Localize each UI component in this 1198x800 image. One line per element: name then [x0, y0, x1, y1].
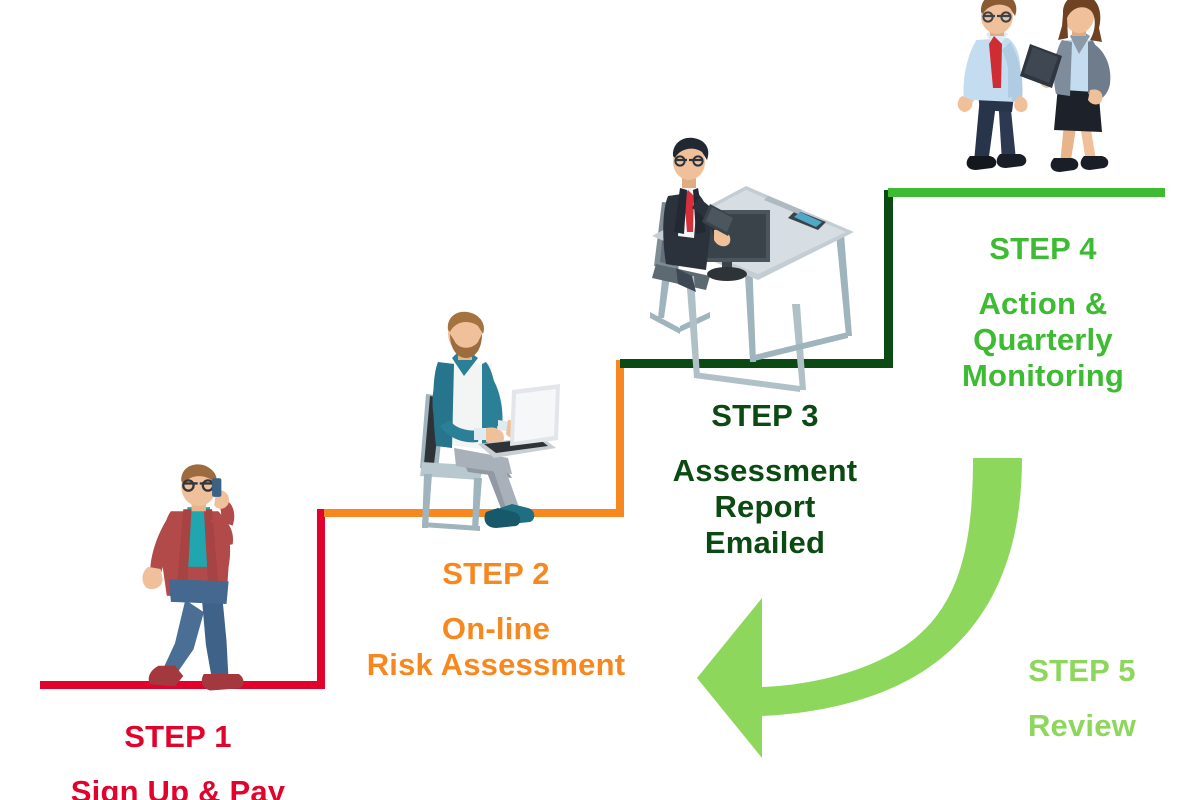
step-3-body: Assessment Report Emailed: [610, 453, 920, 562]
step-5-label-block: STEP 5 Review: [962, 634, 1198, 763]
step-2-body: On-line Risk Assessment: [320, 611, 672, 684]
step-3-label-block: STEP 3 Assessment Report Emailed: [610, 379, 920, 580]
step-4-body: Action & Quarterly Monitoring: [900, 286, 1186, 395]
infographic-canvas: STEP 1 Sign Up & Pay STEP 2 On-line Risk…: [0, 0, 1198, 800]
step-4-label-block: STEP 4 Action & Quarterly Monitoring: [900, 212, 1186, 413]
illustration-businesswoman-standing: [1020, 0, 1110, 172]
illustration-businessman-standing: [958, 0, 1028, 170]
step-4-title: STEP 4: [900, 231, 1186, 267]
step-5-body: Review: [962, 708, 1198, 744]
step-1-body: Sign Up & Pay: [18, 774, 338, 800]
step-3-title: STEP 3: [610, 398, 920, 434]
step-1-title: STEP 1: [18, 719, 338, 755]
step-1-label-block: STEP 1 Sign Up & Pay: [18, 700, 338, 800]
step-5-title: STEP 5: [962, 653, 1198, 689]
